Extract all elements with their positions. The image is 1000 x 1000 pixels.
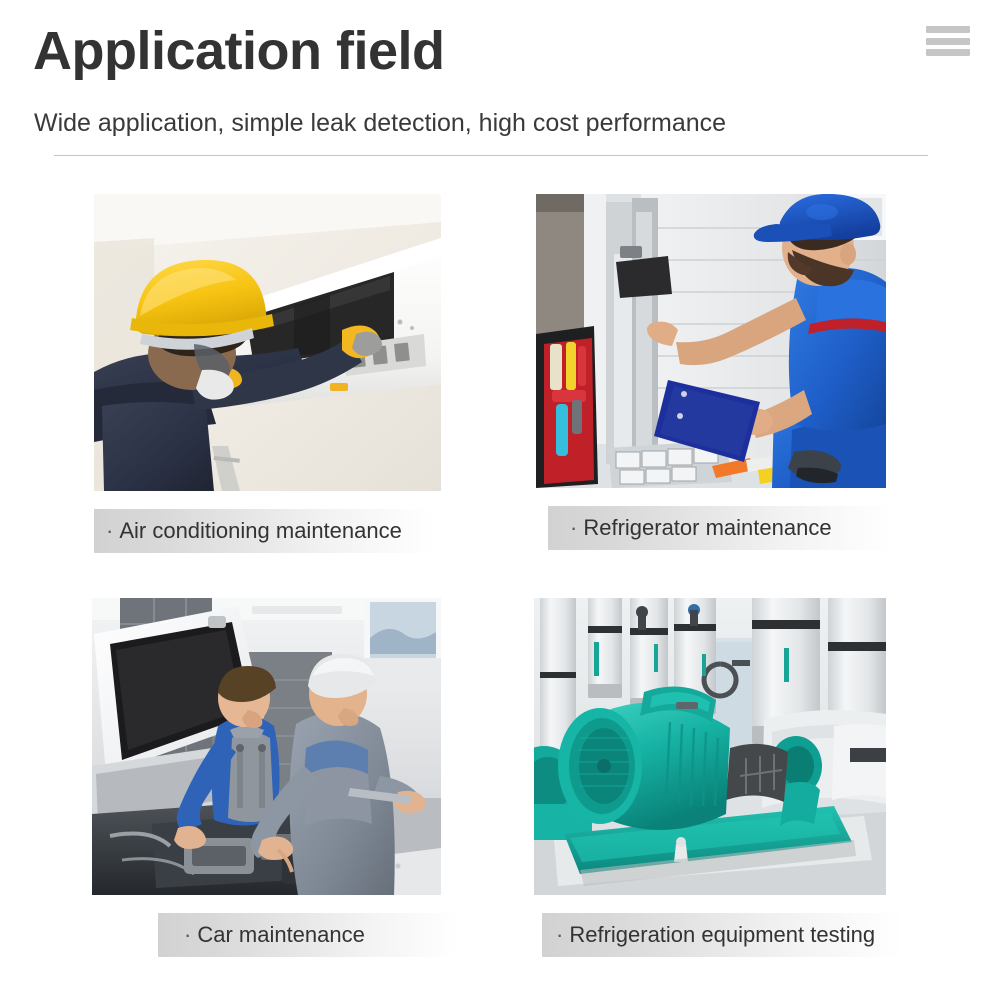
hamburger-bar-top	[926, 26, 970, 33]
caption-bullet: ·	[556, 922, 563, 948]
caption-car-maintenance: · Car maintenance	[158, 913, 458, 957]
photo-refrigerator-maintenance	[536, 194, 886, 488]
caption-air-conditioning-maintenance: · Air conditioning maintenance	[94, 509, 434, 553]
hamburger-menu-icon[interactable]	[926, 24, 972, 58]
page-title: Application field	[33, 22, 445, 81]
page-subtitle: Wide application, simple leak detection,…	[34, 108, 726, 139]
hamburger-bar-middle	[926, 38, 970, 45]
card-car-maintenance[interactable]: · Car maintenance	[92, 598, 458, 957]
caption-refrigeration-equipment-testing: · Refrigeration equipment testing	[542, 913, 902, 957]
application-field-page: Application field Wide application, simp…	[0, 0, 1000, 1000]
caption-refrigerator-maintenance: · Refrigerator maintenance	[548, 506, 893, 550]
card-air-conditioning-maintenance[interactable]: · Air conditioning maintenance	[94, 194, 441, 553]
hamburger-bar-bottom	[926, 49, 970, 56]
caption-text: Car maintenance	[197, 922, 365, 948]
caption-bullet: ·	[570, 515, 577, 541]
caption-text: Refrigeration equipment testing	[569, 922, 875, 948]
card-refrigerator-maintenance[interactable]: · Refrigerator maintenance	[536, 194, 893, 550]
photo-refrigeration-equipment-testing	[534, 598, 886, 895]
page-header: Application field Wide application, simp…	[0, 0, 1000, 160]
photo-air-conditioning-maintenance	[94, 194, 441, 491]
header-divider	[54, 155, 928, 156]
caption-text: Air conditioning maintenance	[119, 518, 402, 544]
caption-bullet: ·	[184, 922, 191, 948]
caption-text: Refrigerator maintenance	[583, 515, 831, 541]
caption-bullet: ·	[106, 518, 113, 544]
card-refrigeration-equipment-testing[interactable]: · Refrigeration equipment testing	[534, 598, 902, 957]
photo-car-maintenance	[92, 598, 441, 895]
